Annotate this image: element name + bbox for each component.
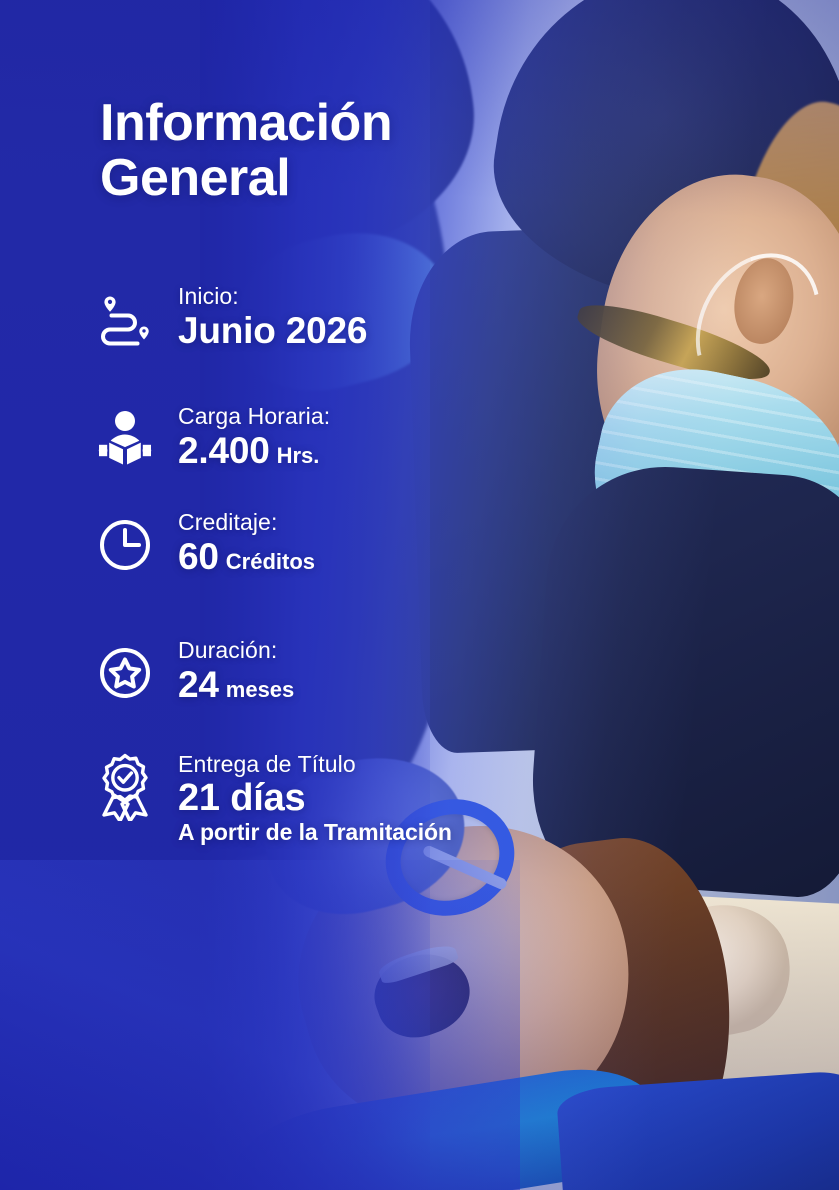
info-row-text: Duración: 24meses — [178, 635, 294, 707]
poster-content: Información General Inicio: Juni — [0, 0, 839, 1190]
info-row-text: Carga Horaria: 2.400Hrs. — [178, 401, 330, 473]
info-row-entrega-titulo: Entrega de Título 21 días A portir de la… — [94, 749, 564, 845]
info-row-carga-horaria: Carga Horaria: 2.400Hrs. — [94, 401, 564, 481]
info-value-unit: Créditos — [226, 549, 315, 574]
info-row-text: Creditaje: 60Créditos — [178, 507, 315, 579]
info-row-text: Inicio: Junio 2026 — [178, 281, 367, 353]
info-value-number: Junio 2026 — [178, 310, 367, 351]
info-label: Carga Horaria: — [178, 403, 330, 430]
info-value: 2.400Hrs. — [178, 430, 330, 473]
award-badge-icon — [94, 753, 156, 821]
info-value-unit: meses — [226, 677, 295, 702]
info-value: 21 días — [178, 778, 452, 819]
info-value: 24meses — [178, 664, 294, 707]
info-row-inicio: Inicio: Junio 2026 — [94, 281, 564, 361]
info-row-creditaje: Creditaje: 60Créditos — [94, 507, 564, 587]
info-value-number: 60 — [178, 536, 219, 577]
info-row-text: Entrega de Título 21 días A portir de la… — [178, 749, 452, 845]
route-icon — [94, 285, 156, 353]
info-value-number: 21 días — [178, 777, 305, 819]
star-circle-icon — [94, 639, 156, 707]
info-label: Entrega de Título — [178, 751, 452, 778]
info-label: Creditaje: — [178, 509, 315, 536]
info-row-duracion: Duración: 24meses — [94, 635, 564, 715]
info-value: Junio 2026 — [178, 310, 367, 353]
info-value: 60Créditos — [178, 536, 315, 579]
info-value-number: 2.400 — [178, 430, 270, 471]
info-value-unit: Hrs. — [277, 443, 320, 468]
info-label: Inicio: — [178, 283, 367, 310]
info-label: Duración: — [178, 637, 294, 664]
info-note: A portir de la Tramitación — [178, 820, 452, 845]
poster-canvas: Información General Inicio: Juni — [0, 0, 839, 1190]
page-title: Información General — [100, 96, 392, 206]
info-value-number: 24 — [178, 664, 219, 705]
person-reading-icon — [94, 405, 156, 473]
clock-icon — [94, 511, 156, 579]
info-list: Inicio: Junio 2026 — [94, 281, 564, 845]
